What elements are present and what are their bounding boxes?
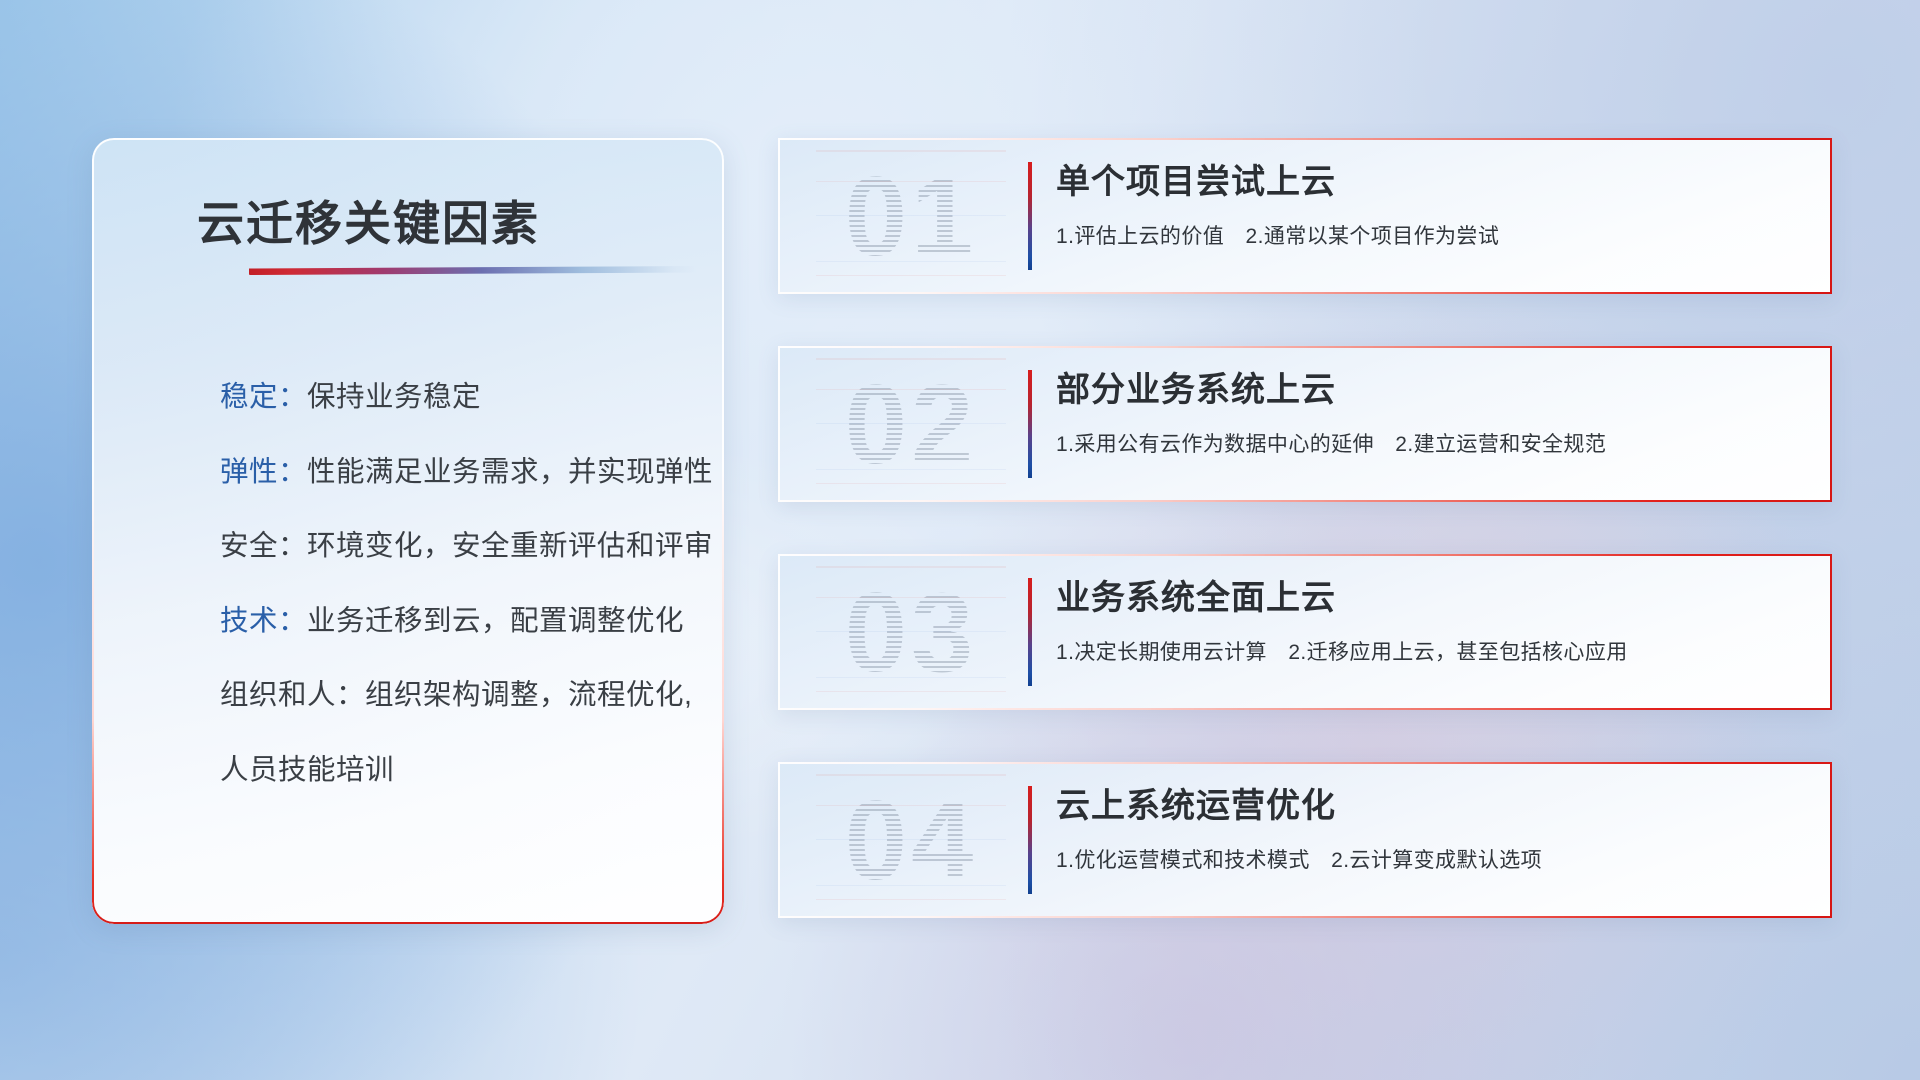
stage-subtitle: 1.评估上云的价值 2.通常以某个项目作为尝试 bbox=[1056, 220, 1804, 250]
factor-list: 稳定：保持业务稳定弹性：性能满足业务需求，并实现弹性安全：环境变化，安全重新评估… bbox=[220, 383, 690, 784]
stage-title: 单个项目尝试上云 bbox=[1056, 162, 1804, 203]
factor-label: 组织和人： bbox=[220, 679, 365, 711]
stage-number-watermark: 02 bbox=[816, 358, 1006, 492]
factor-label: 安全： bbox=[220, 530, 307, 562]
stage-card[interactable]: 04云上系统运营优化1.优化运营模式和技术模式 2.云计算变成默认选项 bbox=[778, 762, 1832, 918]
stage-card-body: 云上系统运营优化1.优化运营模式和技术模式 2.云计算变成默认选项 bbox=[1056, 786, 1804, 874]
stage-card-body: 部分业务系统上云1.采用公有云作为数据中心的延伸 2.建立运营和安全规范 bbox=[1056, 370, 1804, 458]
page-title: 云迁移关键因素 bbox=[197, 185, 540, 254]
stage-title: 云上系统运营优化 bbox=[1056, 786, 1804, 827]
factor-label: 稳定： bbox=[220, 381, 307, 413]
stage-number-watermark: 03 bbox=[816, 566, 1006, 700]
stage-subtitle: 1.采用公有云作为数据中心的延伸 2.建立运营和安全规范 bbox=[1056, 428, 1804, 458]
stage-divider-bar bbox=[1028, 370, 1032, 478]
factor-row: 技术：业务迁移到云，配置调整优化 bbox=[220, 607, 690, 636]
stage-subtitle: 1.优化运营模式和技术模式 2.云计算变成默认选项 bbox=[1056, 844, 1804, 874]
stage-card[interactable]: 03业务系统全面上云1.决定长期使用云计算 2.迁移应用上云，甚至包括核心应用 bbox=[778, 554, 1832, 710]
factor-text: 性能满足业务需求，并实现弹性 bbox=[307, 456, 713, 488]
stage-title: 业务系统全面上云 bbox=[1056, 578, 1804, 619]
key-factors-panel: 云迁移关键因素 稳定：保持业务稳定弹性：性能满足业务需求，并实现弹性安全：环境变… bbox=[92, 138, 724, 924]
factor-text: 保持业务稳定 bbox=[307, 381, 481, 413]
stage-divider-bar bbox=[1028, 786, 1032, 894]
stage-divider-bar bbox=[1028, 162, 1032, 270]
stage-divider-bar bbox=[1028, 578, 1032, 686]
title-underline-rule bbox=[249, 266, 696, 275]
factor-label: 技术： bbox=[220, 605, 307, 637]
factor-row: 安全：环境变化，安全重新评估和评审 bbox=[220, 532, 690, 561]
stage-card[interactable]: 02部分业务系统上云1.采用公有云作为数据中心的延伸 2.建立运营和安全规范 bbox=[778, 346, 1832, 502]
stage-card-list: 01单个项目尝试上云1.评估上云的价值 2.通常以某个项目作为尝试02部分业务系… bbox=[778, 138, 1832, 918]
stage-card-body: 业务系统全面上云1.决定长期使用云计算 2.迁移应用上云，甚至包括核心应用 bbox=[1056, 578, 1804, 666]
factor-text: 组织架构调整，流程优化, bbox=[365, 679, 692, 711]
stage-number-watermark: 01 bbox=[816, 150, 1006, 284]
stage-title: 部分业务系统上云 bbox=[1056, 370, 1804, 411]
factor-row: 组织和人：组织架构调整，流程优化, bbox=[220, 681, 690, 710]
factor-row: 人员技能培训 bbox=[220, 756, 690, 785]
factor-row: 稳定：保持业务稳定 bbox=[220, 383, 690, 412]
stage-card[interactable]: 01单个项目尝试上云1.评估上云的价值 2.通常以某个项目作为尝试 bbox=[778, 138, 1832, 294]
stage-card-body: 单个项目尝试上云1.评估上云的价值 2.通常以某个项目作为尝试 bbox=[1056, 162, 1804, 250]
stage-number-watermark: 04 bbox=[816, 774, 1006, 908]
factor-text: 环境变化，安全重新评估和评审 bbox=[307, 530, 713, 562]
factor-row: 弹性：性能满足业务需求，并实现弹性 bbox=[220, 458, 690, 487]
stage-subtitle: 1.决定长期使用云计算 2.迁移应用上云，甚至包括核心应用 bbox=[1056, 636, 1804, 666]
factor-text: 业务迁移到云，配置调整优化 bbox=[307, 605, 684, 637]
factor-label: 弹性： bbox=[220, 456, 307, 488]
factor-text: 人员技能培训 bbox=[220, 754, 394, 786]
